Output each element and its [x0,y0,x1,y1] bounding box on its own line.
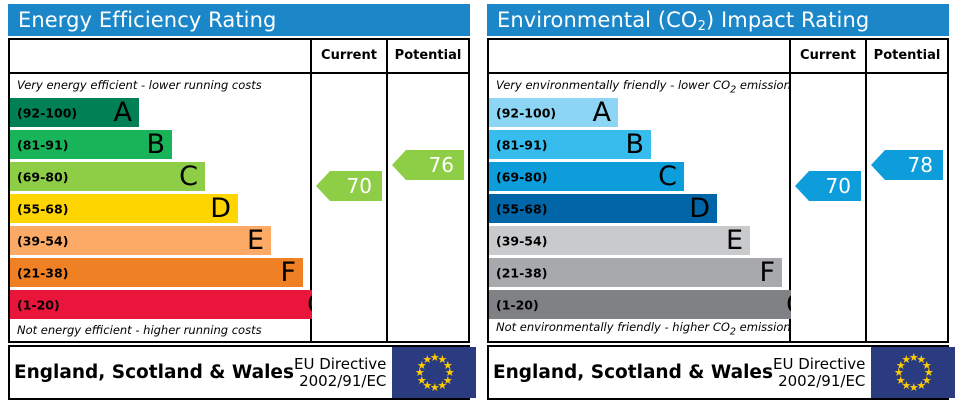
band-range-f: (21-38) [17,265,68,280]
current-rating-arrow-energy: 70 [316,171,382,201]
footer-region-co2: England, Scotland & Wales [489,362,773,383]
band-row-d: (55-68) D [10,194,238,223]
chart-title-text: Energy Efficiency Rating [18,8,276,32]
band-letter-b-co2: B [625,130,644,157]
band-letter-e-co2: E [726,226,743,253]
caption-bottom-co2: Not environmentally friendly - higher CO… [496,320,791,337]
band-range-b: (81-91) [17,137,68,152]
band-letter-a: A [114,98,132,125]
band-row-f: (21-38) F [10,258,303,287]
band-range-c: (69-80) [17,169,68,184]
band-row-g: (1-20) G [10,290,312,319]
eu-star-icon: ★ [901,355,910,364]
band-range-d: (55-68) [17,201,68,216]
band-range-a-co2: (92-100) [496,105,556,120]
current-rating-arrow-co2: 70 [795,171,861,201]
potential-rating-cell-co2: 78 [867,74,947,341]
rating-table-co2: Current Potential Very environmentally f… [487,38,949,343]
band-range-g-co2: (1-20) [496,297,539,312]
directive-line-1: EU Directive [294,356,386,373]
column-header-current-co2: Current [791,40,865,72]
band-row-g-co2: (1-20) G [489,290,791,319]
footer-energy: England, Scotland & Wales EU Directive 2… [8,345,470,400]
current-rating-cell-co2: 70 [791,74,865,341]
directive-line-2-co2: 2002/91/EC [773,373,865,390]
band-row-e-co2: (39-54) E [489,226,750,255]
column-header-potential: Potential [388,40,468,72]
band-range-e-co2: (39-54) [496,233,547,248]
footer-directive-energy: EU Directive 2002/91/EC [294,356,392,390]
co2-impact-rating-chart: Environmental (CO2) Impact Rating Curren… [479,0,957,404]
caption-top-co2: Very environmentally friendly - lower CO… [496,78,791,95]
band-chart-energy: Very energy efficient - lower running co… [10,74,312,341]
band-letter-c: C [179,162,198,189]
band-row-a: (92-100) A [10,98,139,127]
band-letter-c-co2: C [658,162,677,189]
current-rating-cell-energy: 70 [312,74,386,341]
chart-title-co2: Environmental (CO2) Impact Rating [487,4,949,36]
eu-flag-icon-co2: ★★★★★★★★★★★★ [871,347,955,398]
band-range-b-co2: (81-91) [496,137,547,152]
directive-line-1-co2: EU Directive [773,356,865,373]
band-row-b-co2: (81-91) B [489,130,651,159]
band-chart-co2: Very environmentally friendly - lower CO… [489,74,791,341]
band-range-d-co2: (55-68) [496,201,547,216]
band-row-c-co2: (69-80) C [489,162,684,191]
potential-rating-arrow-co2: 78 [871,150,943,180]
band-row-e: (39-54) E [10,226,271,255]
band-letter-f-co2: F [759,258,775,285]
column-header-row-energy: Current Potential [10,40,468,74]
energy-efficiency-rating-chart: Energy Efficiency Rating Current Potenti… [0,0,478,404]
band-letter-f: F [280,258,296,285]
column-header-potential-co2: Potential [867,40,947,72]
potential-rating-arrow-energy: 76 [392,150,464,180]
footer-directive-co2: EU Directive 2002/91/EC [773,356,871,390]
band-letter-d: D [210,194,231,221]
band-row-d-co2: (55-68) D [489,194,717,223]
rating-table-energy: Current Potential Very energy efficient … [8,38,470,343]
band-range-e: (39-54) [17,233,68,248]
band-range-g: (1-20) [17,297,60,312]
band-letter-e: E [247,226,264,253]
caption-top-energy: Very energy efficient - lower running co… [17,78,262,92]
chart-title-energy: Energy Efficiency Rating [8,4,470,36]
band-row-a-co2: (92-100) A [489,98,618,127]
directive-line-2: 2002/91/EC [294,373,386,390]
band-row-f-co2: (21-38) F [489,258,782,287]
column-header-current: Current [312,40,386,72]
potential-rating-cell-energy: 76 [388,74,468,341]
epc-charts-container: Energy Efficiency Rating Current Potenti… [0,0,957,404]
footer-co2: England, Scotland & Wales EU Directive 2… [487,345,949,400]
column-header-row-co2: Current Potential [489,40,947,74]
caption-bottom-energy: Not energy efficient - higher running co… [17,323,262,337]
band-range-f-co2: (21-38) [496,265,547,280]
chart-title-text-co2: Environmental (CO2) Impact Rating [497,8,869,32]
band-range-a: (92-100) [17,105,77,120]
band-row-b: (81-91) B [10,130,172,159]
eu-flag-icon: ★★★★★★★★★★★★ [392,347,476,398]
band-range-c-co2: (69-80) [496,169,547,184]
eu-star-icon: ★ [422,355,431,364]
band-letter-a-co2: A [593,98,611,125]
band-letter-b: B [146,130,165,157]
band-row-c: (69-80) C [10,162,205,191]
footer-region-energy: England, Scotland & Wales [10,362,294,383]
band-letter-d-co2: D [689,194,710,221]
